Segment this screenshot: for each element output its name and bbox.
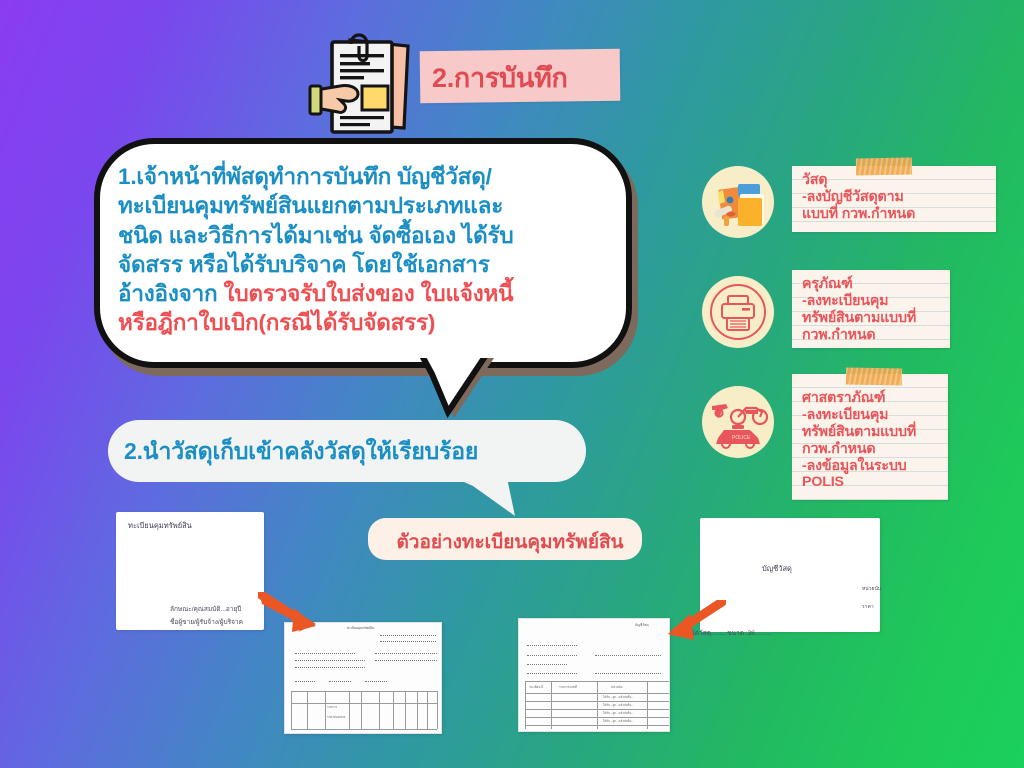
left-form-dot-4	[295, 660, 365, 661]
right-form-title: บัญชีวัสดุ	[635, 623, 649, 628]
left-document-line-2: ชื่อผู้ขาย/ผู้รับจ้าง/ผู้บริจาค	[170, 617, 243, 627]
card-3-tape	[846, 368, 902, 386]
right-form-col-2: รายการ/เลขที่	[559, 685, 577, 690]
svg-text:POLICE: POLICE	[732, 435, 751, 441]
right-document-title: บัญชีวัสดุ	[762, 563, 792, 575]
left-form-grid-v8	[417, 691, 418, 729]
left-form-cell-2: ราคาต่อหน่วย	[327, 715, 345, 720]
left-form-dot-2	[380, 641, 436, 642]
card-3-text: ศาสตราภัณฑ์ -ลงทะเบียนคุม ทรัพย์สินตามแบ…	[802, 390, 950, 491]
clipboard-hand-icon	[304, 24, 422, 142]
right-form-grid-v0	[525, 681, 526, 729]
right-form-dot-5	[595, 655, 661, 656]
left-form-dot-10	[365, 681, 387, 682]
card-2-title: ครุภัณฑ์	[802, 276, 950, 293]
left-form-grid-v6	[393, 691, 394, 729]
card-1-text: วัสดุ -ลงบัญชีวัสดุตาม แบบที่ กวพ.กำหนด	[802, 172, 992, 223]
right-form-document: บัญชีวัสดุ วัน เดือน ปี รายการ/เลขที่ หน…	[518, 618, 670, 732]
main-bubble-line-5-prefix: อ้างอิงจาก	[118, 281, 224, 306]
right-form-dot-2	[527, 655, 577, 656]
right-form-grid-v3	[647, 681, 648, 729]
main-bubble-line-5-accent: ใบตรวจรับใบส่งของ ใบแจ้งหนี้	[224, 281, 514, 306]
right-form-row-2: ได้รับ...ลูก...แล้วส่งคืน...	[603, 703, 634, 708]
right-form-grid-v2	[597, 681, 598, 729]
card-3-title: ศาสตราภัณฑ์	[802, 390, 950, 407]
left-document-title: ทะเบียนคุมทรัพย์สิน	[128, 520, 192, 532]
left-form-dot-1	[380, 635, 436, 636]
card-3-line-4: -ลงข้อมูลในระบบ	[802, 458, 950, 475]
main-bubble-line-2: ทะเบียนคุมทรัพย์สินแยกตามประเภทและ	[118, 191, 618, 220]
card-3-line-3: กวพ.กำหนด	[802, 441, 950, 458]
left-form-dot-6	[375, 653, 437, 654]
arrow-left-to-form	[258, 592, 328, 649]
left-form-dot-9	[329, 681, 351, 682]
arrow-right-to-form	[656, 600, 726, 655]
left-form-cell-1: รายการ	[327, 705, 337, 710]
left-form-grid-h2	[291, 703, 437, 704]
right-form-row-3: ได้รับ...ลูก...แล้วส่งคืน...	[603, 711, 634, 716]
main-bubble-line-4: จัดสรร หรือได้รับบริจาค โดยใช้เอกสาร	[118, 250, 618, 279]
left-form-grid-v0	[291, 691, 292, 729]
police-equipment-icon: POLICE	[702, 386, 774, 458]
left-form-grid-v7	[405, 691, 406, 729]
card-3-icon-circle: POLICE	[702, 386, 774, 458]
card-1-title: วัสดุ	[802, 172, 992, 189]
left-document-line-1: ลักษณะ/คุณสมบัติ...อายุปี	[170, 604, 241, 614]
second-bubble-tail	[455, 478, 517, 518]
right-form-grid-v1	[551, 681, 552, 729]
left-form-grid-v5	[379, 691, 380, 729]
left-form-grid-v10	[437, 691, 438, 729]
right-form-row-4: ได้รับ...ลูก...แล้วส่งคืน...	[603, 719, 634, 724]
main-bubble-line-1: 1.เจ้าหน้าที่พัสดุทำการบันทึก บัญชีวัสดุ…	[118, 162, 618, 191]
main-bubble-text: 1.เจ้าหน้าที่พัสดุทำการบันทึก บัญชีวัสดุ…	[118, 162, 618, 338]
card-1-icon-circle	[702, 166, 774, 238]
left-form-title: ทะเบียนคุมทรัพย์สิน	[347, 626, 374, 631]
left-form-dot-8	[295, 681, 315, 682]
left-form-grid-h3	[291, 729, 437, 730]
main-bubble-line-3: ชนิด และวิธีการได้มาเช่น จัดซื้อเอง ได้ร…	[118, 221, 618, 250]
card-1-line-2: แบบที่ กวพ.กำหนด	[802, 206, 992, 223]
card-2-text: ครุภัณฑ์ -ลงทะเบียนคุม ทรัพย์สินตามแบบที…	[802, 276, 950, 344]
right-document	[700, 518, 880, 632]
second-bubble-text: 2.นำวัสดุเก็บเข้าคลังวัสดุให้เรียบร้อย	[124, 434, 584, 470]
card-2-line-2: ทรัพย์สินตามแบบที่	[802, 310, 950, 327]
card-3-line-5: POLIS	[802, 474, 950, 491]
left-form-dot-7	[375, 660, 437, 661]
right-form-dot-4	[527, 673, 577, 674]
main-bubble-line-6: หรือฎีกาใบเบิก(กรณีได้รับจัดสรร)	[118, 308, 618, 337]
left-form-dot-5	[295, 667, 365, 668]
right-form-dot-3	[527, 664, 567, 665]
right-document-line-3: ราคา	[862, 603, 874, 611]
left-form-grid-v2	[325, 691, 326, 729]
card-2-line-3: กวพ.กำหนด	[802, 327, 950, 344]
right-document-line-2: หน่วยนับ	[862, 585, 881, 593]
right-form-row-1: ได้รับ...ลูก...แล้วส่งคืน...	[603, 695, 634, 700]
left-form-grid-v4	[361, 691, 362, 729]
left-form-grid-v1	[307, 691, 308, 729]
left-form-grid-h1	[291, 691, 437, 692]
card-3-line-1: -ลงทะเบียนคุม	[802, 407, 950, 424]
printer-icon	[702, 276, 774, 348]
card-3-line-2: ทรัพย์สินตามแบบที่	[802, 424, 950, 441]
card-2-line-1: -ลงทะเบียนคุม	[802, 293, 950, 310]
caption-label: ตัวอย่างทะเบียนคุมทรัพย์สิน	[380, 527, 640, 557]
left-form-grid-v3	[349, 691, 350, 729]
main-bubble-line-5: อ้างอิงจาก ใบตรวจรับใบส่งของ ใบแจ้งหนี้	[118, 279, 618, 308]
right-form-col-3: หน่วยนับ	[611, 685, 622, 690]
left-form-grid-v9	[427, 691, 428, 729]
art-supplies-icon	[702, 166, 774, 238]
card-1-line-1: -ลงบัญชีวัสดุตาม	[802, 189, 992, 206]
right-form-col-1: วัน เดือน ปี	[529, 685, 543, 690]
left-form-dot-3	[295, 653, 355, 654]
page-title: 2.การบันทึก	[432, 56, 632, 99]
right-form-dot-1	[527, 645, 577, 646]
right-form-dot-6	[595, 673, 661, 674]
main-bubble-tail	[420, 358, 500, 424]
card-2-icon-circle	[702, 276, 774, 348]
